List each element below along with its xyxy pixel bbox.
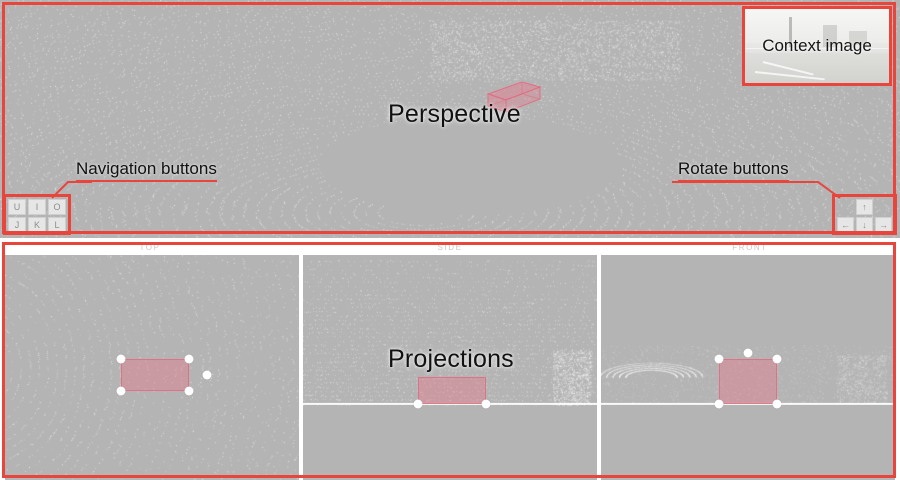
nav-key-o[interactable]: O bbox=[48, 199, 66, 215]
top-bounding-box[interactable] bbox=[121, 359, 189, 391]
rotate-button-row: ← ↓ → bbox=[837, 217, 892, 233]
front-handle-bl[interactable] bbox=[715, 400, 724, 409]
front-handle-tr[interactable] bbox=[773, 355, 782, 364]
rotate-buttons-group[interactable]: ↑ ← ↓ → bbox=[832, 194, 897, 235]
top-handle-heading[interactable] bbox=[203, 371, 212, 380]
navigation-button-row: J K L bbox=[8, 217, 66, 233]
nav-key-l[interactable]: L bbox=[48, 217, 66, 233]
nav-key-j[interactable]: J bbox=[8, 217, 26, 233]
arrow-left-icon[interactable]: ← bbox=[837, 217, 854, 233]
rotate-key-spacer bbox=[875, 199, 892, 215]
front-handle-br[interactable] bbox=[773, 400, 782, 409]
rotate-buttons-callout: Rotate buttons bbox=[678, 159, 789, 182]
side-bounding-box[interactable] bbox=[418, 377, 486, 404]
top-handle-br[interactable] bbox=[185, 387, 194, 396]
navigation-buttons-callout-text: Navigation buttons bbox=[76, 159, 217, 182]
projection-headers: TOP SIDE FRONT bbox=[0, 240, 900, 255]
projections-label: Projections bbox=[388, 345, 514, 374]
arrow-right-icon[interactable]: → bbox=[875, 217, 892, 233]
rotate-key-spacer bbox=[837, 199, 854, 215]
front-handle-top-center[interactable] bbox=[744, 349, 753, 358]
nav-key-k[interactable]: K bbox=[28, 217, 46, 233]
front-bounding-box[interactable] bbox=[719, 359, 777, 404]
rotate-buttons-callout-text: Rotate buttons bbox=[678, 159, 789, 182]
side-handle-br[interactable] bbox=[482, 400, 491, 409]
arrow-up-icon[interactable]: ↑ bbox=[856, 199, 873, 215]
projection-header-front: FRONT bbox=[600, 240, 900, 255]
top-handle-bl[interactable] bbox=[117, 387, 126, 396]
projection-view-front[interactable] bbox=[601, 255, 895, 480]
projection-view-top[interactable] bbox=[5, 255, 299, 480]
nav-key-i[interactable]: I bbox=[28, 199, 46, 215]
projection-header-side: SIDE bbox=[300, 240, 600, 255]
navigation-buttons-callout: Navigation buttons bbox=[76, 159, 217, 182]
nav-key-u[interactable]: U bbox=[8, 199, 26, 215]
navigation-buttons-group[interactable]: U I O J K L bbox=[3, 194, 71, 235]
top-handle-tr[interactable] bbox=[185, 355, 194, 364]
context-image-panel[interactable]: Context image bbox=[742, 6, 892, 86]
side-handle-bl[interactable] bbox=[414, 400, 423, 409]
perspective-label: Perspective bbox=[388, 100, 521, 129]
projection-header-top: TOP bbox=[0, 240, 300, 255]
arrow-down-icon[interactable]: ↓ bbox=[856, 217, 873, 233]
top-handle-tl[interactable] bbox=[117, 355, 126, 364]
navigation-button-row: U I O bbox=[8, 199, 66, 215]
rotate-button-row: ↑ bbox=[837, 199, 892, 215]
front-handle-tl[interactable] bbox=[715, 355, 724, 364]
context-image-label: Context image bbox=[745, 36, 889, 56]
annotation-tool-window: Perspective Context image U I O J K L bbox=[0, 0, 900, 480]
